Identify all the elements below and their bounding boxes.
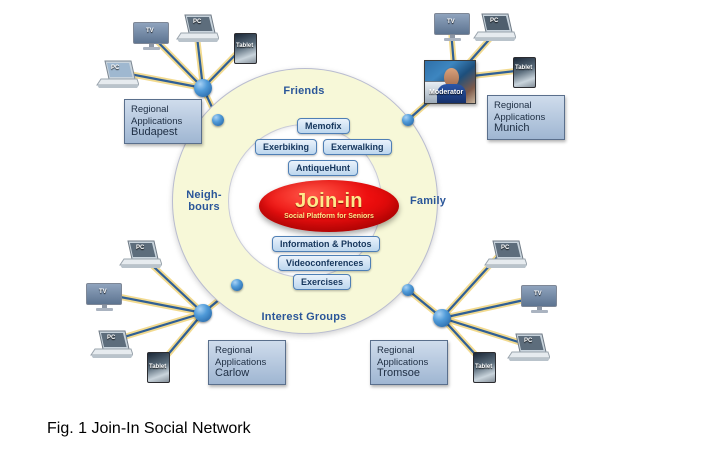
regional-box-city: Carlow bbox=[215, 368, 279, 380]
regional-box-line1: Regional bbox=[131, 104, 195, 116]
pc-icon-label: PC bbox=[524, 338, 532, 344]
pc-icon-budapest-top: PC bbox=[175, 12, 219, 44]
tablet-icon-carlow: Tablet bbox=[147, 352, 171, 384]
tablet-icon-label: Tablet bbox=[515, 65, 532, 71]
ring-node-top-right[interactable] bbox=[402, 114, 414, 126]
tv-icon-label: TV bbox=[146, 28, 154, 34]
pc-icon-tromsoe-top: PC bbox=[483, 238, 527, 270]
ring-node-bottom-left[interactable] bbox=[231, 279, 243, 291]
regional-box-carlow[interactable]: Regional Applications Carlow bbox=[208, 340, 286, 385]
tv-icon-munich: TV bbox=[434, 13, 472, 43]
tv-icon-budapest: TV bbox=[133, 22, 171, 52]
pc-icon-label: PC bbox=[501, 245, 509, 251]
ring-label-neighbours: Neigh- bours bbox=[176, 189, 232, 213]
app-pill-memofix[interactable]: Memofix bbox=[297, 118, 350, 134]
ring-label-friends: Friends bbox=[254, 85, 354, 97]
pc-icon-tromsoe-bottom: PC bbox=[506, 331, 550, 363]
tv-icon-label: TV bbox=[534, 291, 542, 297]
app-pill-exercises[interactable]: Exercises bbox=[293, 274, 351, 290]
tablet-icon-label: Tablet bbox=[475, 364, 492, 370]
app-pill-exerbiking[interactable]: Exerbiking bbox=[255, 139, 317, 155]
moderator-label: Moderator bbox=[429, 89, 463, 96]
pc-icon-carlow-bottom: PC bbox=[89, 328, 133, 360]
hub-node-carlow[interactable] bbox=[194, 304, 212, 322]
regional-box-line1: Regional bbox=[215, 345, 279, 357]
ring-node-bottom-right[interactable] bbox=[402, 284, 414, 296]
regional-box-city: Budapest bbox=[131, 127, 195, 139]
ring-node-top-left[interactable] bbox=[212, 114, 224, 126]
pc-icon-label: PC bbox=[111, 65, 119, 71]
figure-caption: Fig. 1 Join-In Social Network bbox=[47, 420, 251, 438]
app-pill-information-photos[interactable]: Information & Photos bbox=[272, 236, 380, 252]
hub-node-tromsoe[interactable] bbox=[433, 309, 451, 327]
regional-box-city: Munich bbox=[494, 123, 558, 135]
regional-box-city: Tromsoe bbox=[377, 368, 441, 380]
pc-icon-label: PC bbox=[193, 19, 201, 25]
ring-label-family: Family bbox=[398, 195, 458, 207]
diagram-canvas: Friends Family Interest Groups Neigh- bo… bbox=[0, 0, 710, 460]
moderator-photo: Moderator bbox=[424, 60, 476, 104]
core-ellipse: Join-in Social Platform for Seniors bbox=[259, 180, 399, 232]
app-pill-videoconferences[interactable]: Videoconferences bbox=[278, 255, 371, 271]
pc-icon-label: PC bbox=[136, 245, 144, 251]
pc-icon-budapest-left: PC bbox=[95, 58, 139, 90]
tv-icon-tromsoe: TV bbox=[521, 285, 559, 315]
core-title: Join-in bbox=[295, 191, 363, 211]
app-pill-antiquehunt[interactable]: AntiqueHunt bbox=[288, 160, 358, 176]
hub-node-budapest[interactable] bbox=[194, 79, 212, 97]
ring-label-interest-groups: Interest Groups bbox=[244, 311, 364, 323]
tablet-icon-tromsoe: Tablet bbox=[473, 352, 497, 384]
tv-icon-carlow: TV bbox=[86, 283, 124, 313]
pc-icon-carlow-top: PC bbox=[118, 238, 162, 270]
tablet-icon-label: Tablet bbox=[149, 364, 166, 370]
core-subtitle: Social Platform for Seniors bbox=[284, 213, 374, 221]
regional-box-munich[interactable]: Regional Applications Munich bbox=[487, 95, 565, 140]
regional-box-budapest[interactable]: Regional Applications Budapest bbox=[124, 99, 202, 144]
regional-box-tromsoe[interactable]: Regional Applications Tromsoe bbox=[370, 340, 448, 385]
ring-label-neighbours-line2: bours bbox=[176, 201, 232, 213]
regional-box-line1: Regional bbox=[377, 345, 441, 357]
tablet-icon-label: Tablet bbox=[236, 43, 253, 49]
tablet-icon-munich: Tablet bbox=[513, 57, 537, 89]
pc-icon-munich: PC bbox=[472, 11, 516, 43]
ring-label-neighbours-line1: Neigh- bbox=[176, 189, 232, 201]
tablet-icon-budapest: Tablet bbox=[234, 33, 258, 65]
pc-icon-label: PC bbox=[490, 18, 498, 24]
regional-box-line1: Regional bbox=[494, 100, 558, 112]
tv-icon-label: TV bbox=[99, 289, 107, 295]
pc-icon-label: PC bbox=[107, 335, 115, 341]
app-pill-exerwalking[interactable]: Exerwalking bbox=[323, 139, 392, 155]
tv-icon-label: TV bbox=[447, 19, 455, 25]
